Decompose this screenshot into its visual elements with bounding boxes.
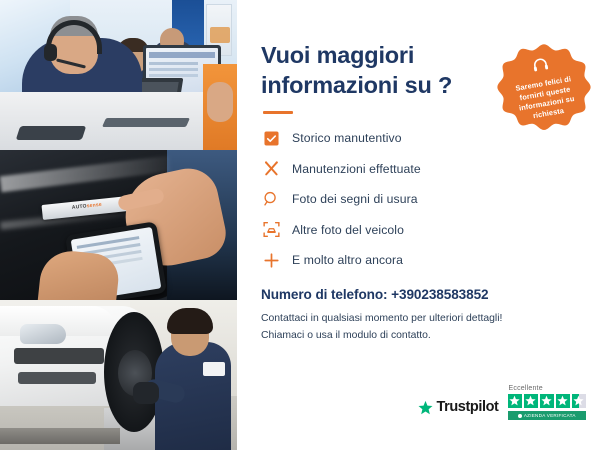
headset-icon <box>530 56 550 79</box>
verified-company-badge: AZIENDA VERIFICATA <box>508 411 587 420</box>
list-item-label: Storico manutentivo <box>292 131 402 145</box>
callout-badge: Saremo felici di fornirti queste informa… <box>496 40 592 136</box>
star-filled <box>524 394 539 409</box>
trustpilot-wordmark: Trustpilot <box>436 399 498 415</box>
photo-mechanic-inspecting-white-car-on-lift <box>0 300 237 450</box>
checkbox-checked-icon <box>261 128 281 148</box>
feature-list: Storico manutentivo Manutenzioni effettu… <box>261 128 578 270</box>
promo-banner: AUTOsense Vuoi maggiori informazioni su … <box>0 0 600 450</box>
trustpilot-rating: Eccellente AZIENDA VERIFICATA <box>508 385 587 421</box>
page-title: Vuoi maggiori informazioni su ? <box>261 40 476 100</box>
badge-text: Saremo felici di fornirti queste informa… <box>507 73 585 125</box>
list-item: E molto altro ancora <box>261 250 578 270</box>
plus-icon <box>261 250 281 270</box>
photo-paint-thickness-test-on-car-with-phone: AUTOsense <box>0 150 237 300</box>
star-filled <box>540 394 555 409</box>
star-filled <box>508 394 523 409</box>
verified-label: AZIENDA VERIFICATA <box>524 413 576 418</box>
trustpilot-block[interactable]: Trustpilot Eccellente AZIENDA VERIFICATA <box>418 385 586 421</box>
tools-cross-icon <box>261 159 281 179</box>
list-item-label: Altre foto del veicolo <box>292 223 404 237</box>
photo-column: AUTOsense <box>0 0 237 450</box>
list-item: Altre foto del veicolo <box>261 220 578 240</box>
photo-call-center-agents-with-headsets <box>0 0 237 150</box>
phone-number-line[interactable]: Numero di telefono: +390238583852 <box>261 287 578 302</box>
list-item: Manutenzioni effettuate <box>261 159 578 179</box>
trustpilot-logo[interactable]: Trustpilot <box>418 399 498 420</box>
list-item-label: Manutenzioni effettuate <box>292 162 421 176</box>
trustpilot-stars <box>508 394 587 409</box>
trustpilot-rating-word: Eccellente <box>508 385 543 392</box>
star-filled <box>556 394 571 409</box>
car-scan-frame-icon <box>261 220 281 240</box>
contact-instructions: Contattaci in qualsiasi momento per ulte… <box>261 311 578 345</box>
star-half <box>572 394 587 409</box>
list-item-label: Foto dei segni di usura <box>292 192 418 206</box>
content-panel: Vuoi maggiori informazioni su ? Storico … <box>237 0 600 450</box>
check-circle-icon <box>518 414 522 418</box>
trustpilot-star-icon <box>418 400 433 415</box>
contact-line-1: Contattaci in qualsiasi momento per ulte… <box>261 311 578 328</box>
title-divider <box>263 111 293 114</box>
contact-line-2: Chiamaci o usa il modulo di contatto. <box>261 328 578 345</box>
list-item: Foto dei segni di usura <box>261 189 578 209</box>
list-item-label: E molto altro ancora <box>292 253 403 267</box>
magnifier-icon <box>261 189 281 209</box>
